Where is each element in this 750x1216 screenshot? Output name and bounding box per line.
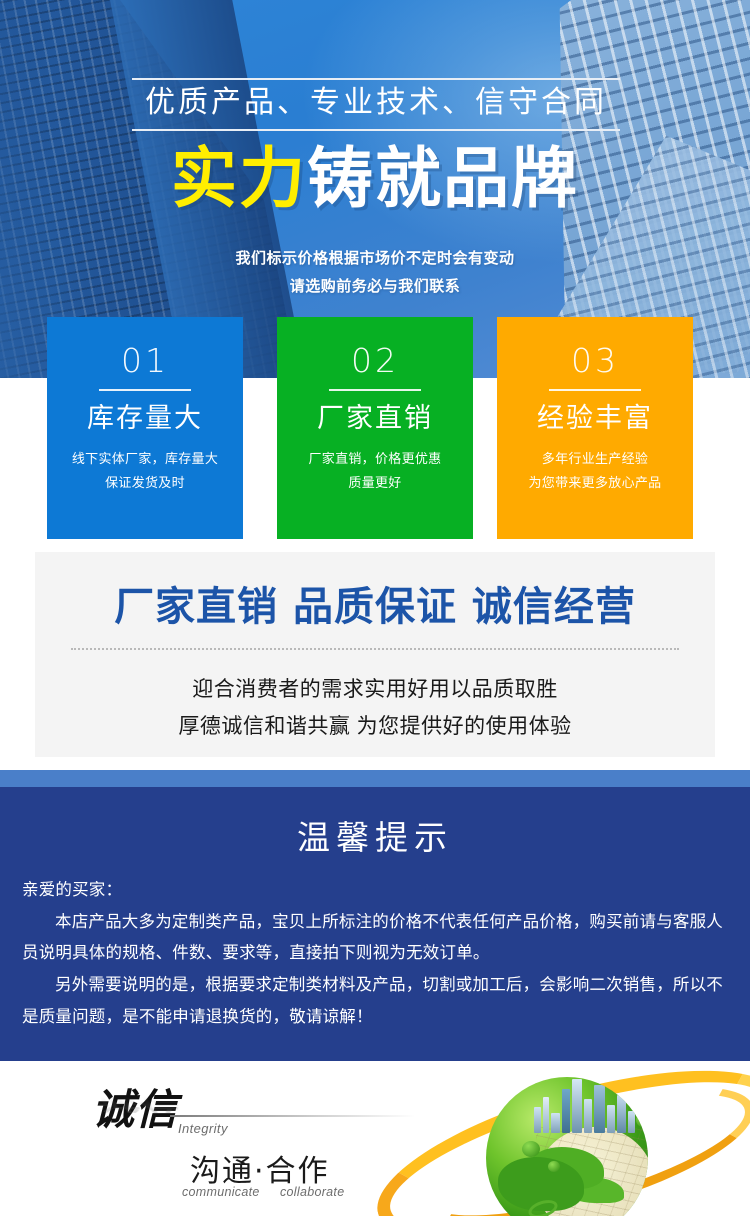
- divider-band: [0, 770, 750, 787]
- globe-artwork: [400, 1061, 750, 1216]
- feature-card-2-title: 厂家直销: [277, 403, 473, 435]
- feature-card-1-title: 库存量大: [47, 403, 243, 435]
- hero-subtext-line-2: 请选购前务必与我们联系: [0, 273, 750, 301]
- feature-card-1-desc-line-1: 线下实体厂家，库存量大: [53, 447, 237, 471]
- footer-integrity-label: Integrity: [178, 1121, 228, 1136]
- feature-card-1[interactable]: 01 库存量大 线下实体厂家，库存量大 保证发货及时: [47, 317, 243, 539]
- feature-card-3-divider: [549, 389, 641, 391]
- feature-card-3-desc-line-1: 多年行业生产经验: [503, 447, 687, 471]
- feature-card-2-desc: 厂家直销，价格更优惠 质量更好: [277, 447, 473, 495]
- hero-subtext-line-1: 我们标示价格根据市场价不定时会有变动: [0, 245, 750, 273]
- slogan-dotted-divider: [71, 648, 679, 650]
- footer-goutong-hezuo-title: 沟通·合作: [190, 1146, 330, 1190]
- feature-card-2-desc-line-2: 质量更好: [283, 471, 467, 495]
- feature-card-1-divider: [99, 389, 191, 391]
- hero-headline-highlight: 实力: [171, 140, 307, 217]
- footer-divider-line: [170, 1115, 415, 1117]
- feature-card-1-desc: 线下实体厂家，库存量大 保证发货及时: [47, 447, 243, 495]
- slogan-panel: 厂家直销 品质保证 诚信经营 迎合消费者的需求实用好用以品质取胜 厚德诚信和谐共…: [35, 552, 715, 757]
- feature-card-2-desc-line-1: 厂家直销，价格更优惠: [283, 447, 467, 471]
- feature-card-3-number: 03: [497, 341, 693, 380]
- footer-communicate-label: communicate: [182, 1185, 260, 1199]
- hero-tagline-frame: 优质产品、专业技术、信守合同: [132, 78, 620, 131]
- feature-card-3-desc-line-2: 为您带来更多放心产品: [503, 471, 687, 495]
- green-globe-icon: [486, 1077, 648, 1216]
- hero-subtext: 我们标示价格根据市场价不定时会有变动 请选购前务必与我们联系: [0, 245, 750, 301]
- feature-card-2-divider: [329, 389, 421, 391]
- feature-card-3[interactable]: 03 经验丰富 多年行业生产经验 为您带来更多放心产品: [497, 317, 693, 539]
- notice-title: 温馨提示: [0, 787, 750, 859]
- tree-icon-2: [522, 1141, 540, 1157]
- feature-cards: 01 库存量大 线下实体厂家，库存量大 保证发货及时 02 厂家直销 厂家直销，…: [0, 317, 750, 539]
- tree-icon-1: [636, 1113, 648, 1127]
- city-skyline-icon: [532, 1077, 640, 1133]
- notice-section: 温馨提示 亲爱的买家： 本店产品大多为定制类产品，宝贝上所标注的价格不代表任何产…: [0, 787, 750, 1061]
- footer-banner: 诚信 诚信 Integrity 沟通·合作 communicate collab…: [0, 1061, 750, 1216]
- hero-headline: 实力铸就品牌: [0, 146, 750, 212]
- hero-headline-rest: 铸就品牌: [307, 140, 579, 217]
- feature-card-2[interactable]: 02 厂家直销 厂家直销，价格更优惠 质量更好: [277, 317, 473, 539]
- hero-tagline: 优质产品、专业技术、信守合同: [132, 86, 620, 121]
- feature-card-2-number: 02: [277, 341, 473, 380]
- footer-collaborate-label: collaborate: [280, 1185, 344, 1199]
- tree-icon-3: [548, 1161, 560, 1172]
- notice-paragraph-2: 另外需要说明的是，根据要求定制类材料及产品，切割或加工后，会影响二次销售，所以不…: [22, 970, 728, 1033]
- feature-card-3-desc: 多年行业生产经验 为您带来更多放心产品: [497, 447, 693, 495]
- notice-paragraph-1: 本店产品大多为定制类产品，宝贝上所标注的价格不代表任何产品价格，购买前请与客服人…: [22, 907, 728, 970]
- slogan-subtext: 迎合消费者的需求实用好用以品质取胜 厚德诚信和谐共赢 为您提供好的使用体验: [35, 672, 715, 746]
- feature-card-1-number: 01: [47, 341, 243, 380]
- slogan-subtext-line-1: 迎合消费者的需求实用好用以品质取胜: [35, 672, 715, 709]
- feature-card-1-desc-line-2: 保证发货及时: [53, 471, 237, 495]
- slogan-subtext-line-2: 厚德诚信和谐共赢 为您提供好的使用体验: [35, 709, 715, 746]
- notice-greeting: 亲爱的买家：: [22, 875, 728, 907]
- feature-card-3-title: 经验丰富: [497, 403, 693, 435]
- slogan-headline: 厂家直销 品质保证 诚信经营: [35, 574, 715, 632]
- footer-chengxin-reflection: 诚信: [92, 1086, 178, 1120]
- notice-body: 亲爱的买家： 本店产品大多为定制类产品，宝贝上所标注的价格不代表任何产品价格，购…: [0, 859, 750, 1033]
